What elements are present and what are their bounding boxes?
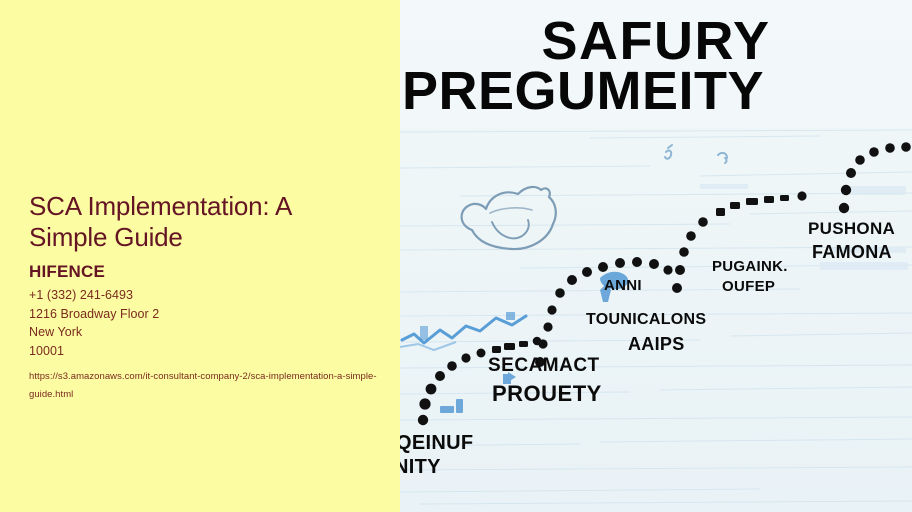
company-phone: +1 (332) 241-6493 (29, 286, 379, 305)
cover-artwork-graphic (400, 0, 912, 512)
company-street-address: 1216 Broadway Floor 2 (29, 305, 379, 324)
company-city: New York (29, 323, 379, 342)
page-title: SCA Implementation: A Simple Guide (29, 191, 379, 253)
cover-artwork-panel: SAFURY PREGUMEITY QEINUF NITY SECAMACT P… (400, 0, 912, 512)
document-info-panel: SCA Implementation: A Simple Guide HIFEN… (0, 0, 400, 512)
document-url[interactable]: https://s3.amazonaws.com/it-consultant-c… (29, 368, 379, 404)
headline-backdrop (400, 0, 912, 128)
company-zip: 10001 (29, 342, 379, 361)
company-name: HIFENCE (29, 261, 379, 282)
document-cover-page: SCA Implementation: A Simple Guide HIFEN… (0, 0, 912, 512)
document-metadata-block: SCA Implementation: A Simple Guide HIFEN… (29, 191, 379, 404)
